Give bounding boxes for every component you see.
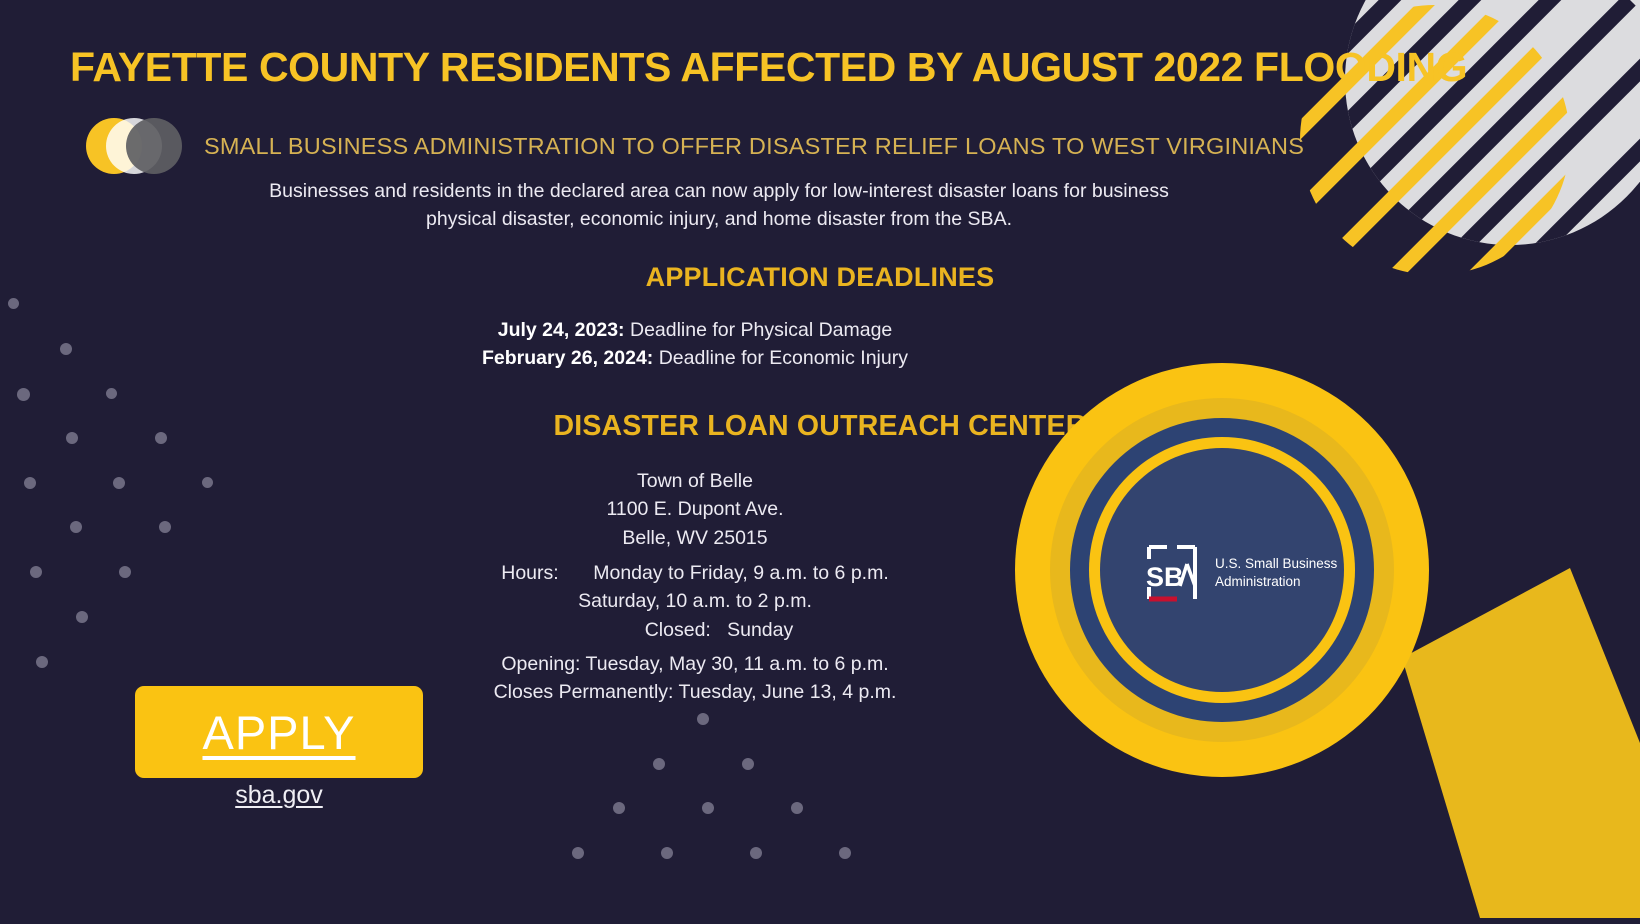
- hours-closed-day: Sunday: [727, 619, 793, 641]
- deadline-text: Deadline for Economic Injury: [653, 347, 908, 369]
- address-street: 1100 E. Dupont Ave.: [0, 495, 1390, 523]
- deadline-date: February 26, 2024:: [482, 347, 653, 369]
- page-title: FAYETTE COUNTY RESIDENTS AFFECTED BY AUG…: [70, 46, 1320, 89]
- outreach-center-heading: DISASTER LOAN OUTREACH CENTER: [0, 410, 1640, 443]
- sba-mark-icon: SB: [1143, 542, 1201, 604]
- gray-circle-icon: [126, 118, 182, 174]
- application-deadlines-list: July 24, 2023: Deadline for Physical Dam…: [0, 316, 1640, 373]
- sba-logo-line2: Administration: [1215, 573, 1337, 591]
- hours-weekday-row: Hours:Monday to Friday, 9 a.m. to 6 p.m.: [501, 559, 889, 587]
- svg-text:SB: SB: [1146, 562, 1184, 592]
- sba-gov-link[interactable]: sba.gov: [135, 781, 423, 810]
- deadline-date: July 24, 2023:: [498, 319, 625, 341]
- opening-date: Opening: Tuesday, May 30, 11 a.m. to 6 p…: [0, 650, 1390, 678]
- hours-saturday-row: Saturday, 10 a.m. to 2 p.m.: [501, 587, 889, 615]
- hours-closed-row: Closed: Sunday: [501, 616, 889, 644]
- sba-logo: SB U.S. Small Business Administration: [1143, 540, 1343, 606]
- sba-logo-words: U.S. Small Business Administration: [1215, 555, 1337, 591]
- sba-logo-line1: U.S. Small Business: [1215, 555, 1337, 573]
- deadline-text: Deadline for Physical Damage: [625, 319, 893, 341]
- subheading-row: SMALL BUSINESS ADMINISTRATION TO OFFER D…: [86, 118, 1304, 174]
- subheading-text: SMALL BUSINESS ADMINISTRATION TO OFFER D…: [204, 133, 1304, 160]
- address-name: Town of Belle: [0, 467, 1390, 495]
- three-circles-icon: [86, 118, 182, 174]
- hours-saturday: Saturday, 10 a.m. to 2 p.m.: [578, 590, 812, 612]
- poster-canvas: FAYETTE COUNTY RESIDENTS AFFECTED BY AUG…: [0, 0, 1640, 924]
- hours-rows: Hours:Monday to Friday, 9 a.m. to 6 p.m.…: [501, 559, 889, 644]
- intro-paragraph: Businesses and residents in the declared…: [240, 178, 1198, 233]
- deadline-row: July 24, 2023: Deadline for Physical Dam…: [0, 316, 1390, 344]
- deadline-row: February 26, 2024: Deadline for Economic…: [0, 344, 1390, 372]
- hours-weekday: Monday to Friday, 9 a.m. to 6 p.m.: [593, 562, 889, 584]
- outreach-center-hours: Hours:Monday to Friday, 9 a.m. to 6 p.m.…: [0, 559, 1640, 644]
- outreach-center-address: Town of Belle 1100 E. Dupont Ave. Belle,…: [0, 467, 1640, 552]
- apply-button-label: APPLY: [202, 705, 355, 760]
- hours-label: Hours:: [501, 559, 593, 587]
- apply-button[interactable]: APPLY: [135, 686, 423, 778]
- hours-closed-label: Closed:: [645, 619, 711, 641]
- application-deadlines-heading: APPLICATION DEADLINES: [0, 262, 1640, 293]
